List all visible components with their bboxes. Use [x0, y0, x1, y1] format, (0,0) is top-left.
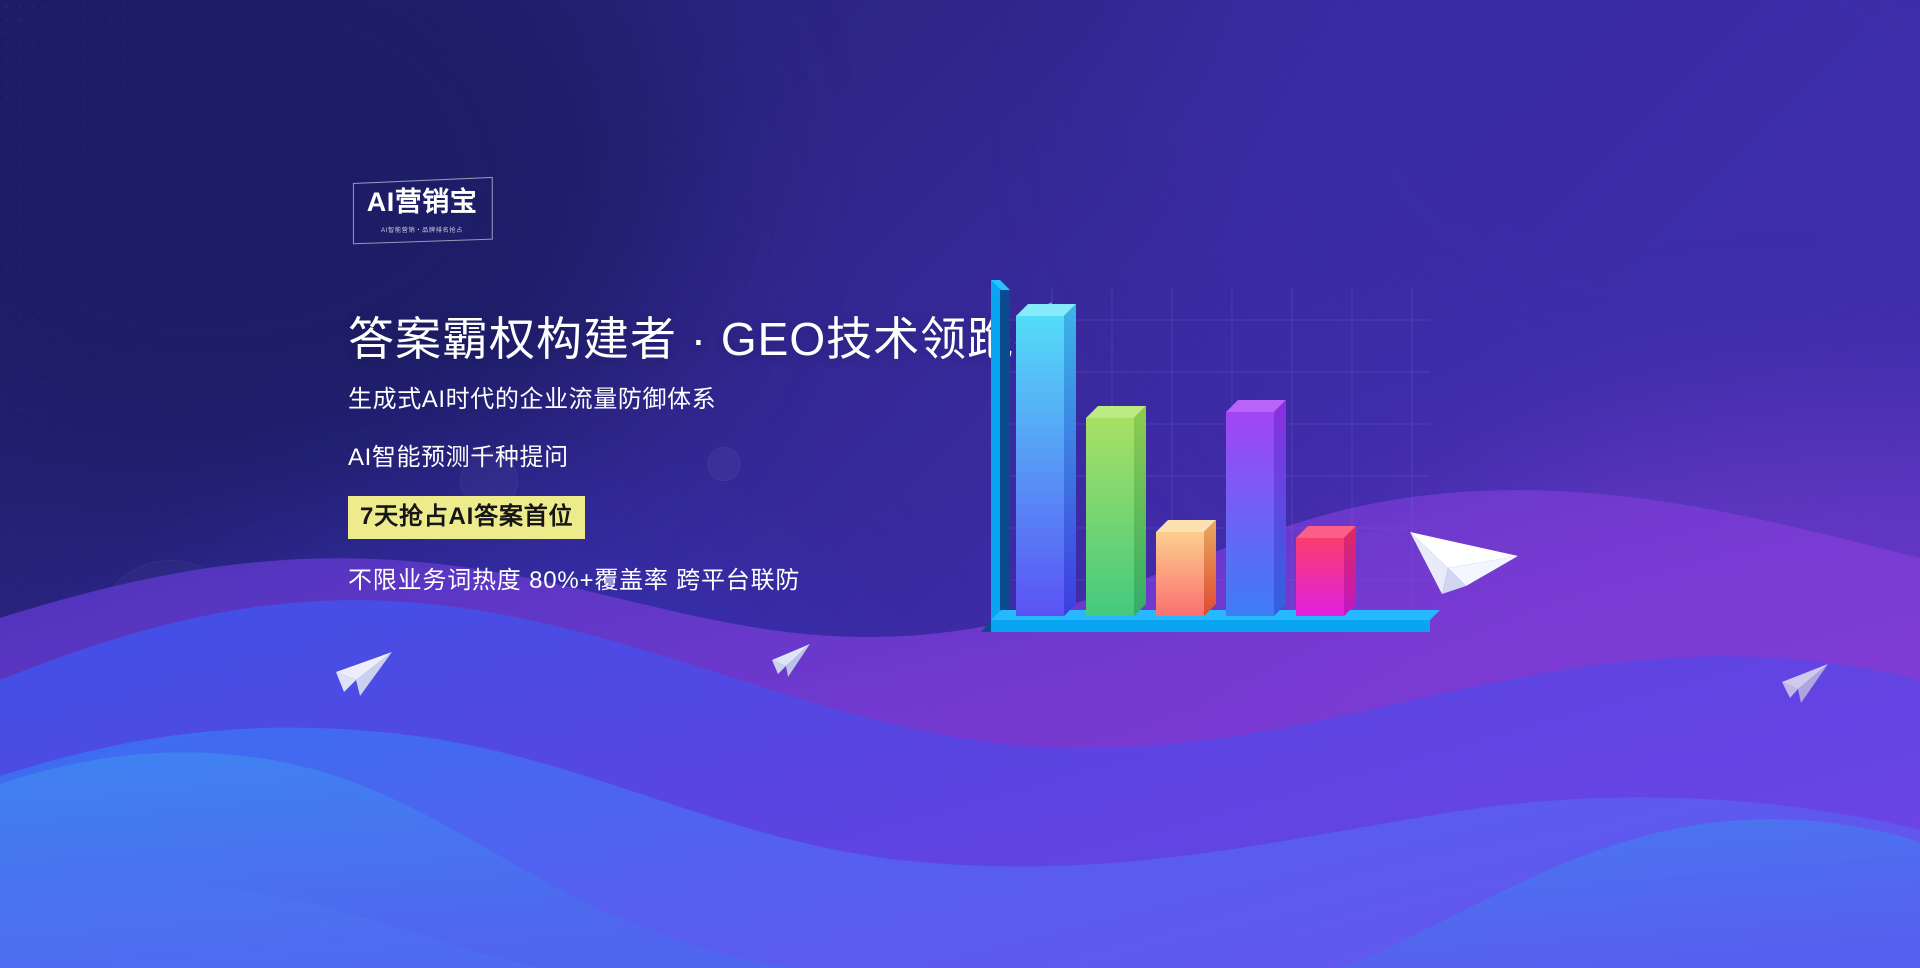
paper-plane-icon [1778, 662, 1830, 706]
paper-plane-icon [1408, 512, 1520, 598]
chart-bar [1086, 406, 1146, 616]
highlight-badge: 7天抢占AI答案首位 [348, 496, 585, 539]
chart-y-axis [991, 280, 1010, 630]
brand-logo[interactable]: AI营销宝 AI智能营销・品牌排名抢占 [352, 180, 492, 242]
logo-text: AI营销宝 [352, 189, 492, 216]
chart-bar [1226, 400, 1286, 616]
logo-tagline: AI智能营销・品牌排名抢占 [355, 224, 489, 234]
hero-banner: AI营销宝 AI智能营销・品牌排名抢占 答案霸权构建者 · GEO技术领跑者 生… [0, 0, 1920, 968]
chart-bar [1156, 520, 1216, 616]
bar-chart-illustration [960, 280, 1480, 680]
paper-plane-icon [768, 642, 812, 680]
paper-plane-icon [330, 648, 394, 700]
chart-bar [1296, 526, 1356, 616]
